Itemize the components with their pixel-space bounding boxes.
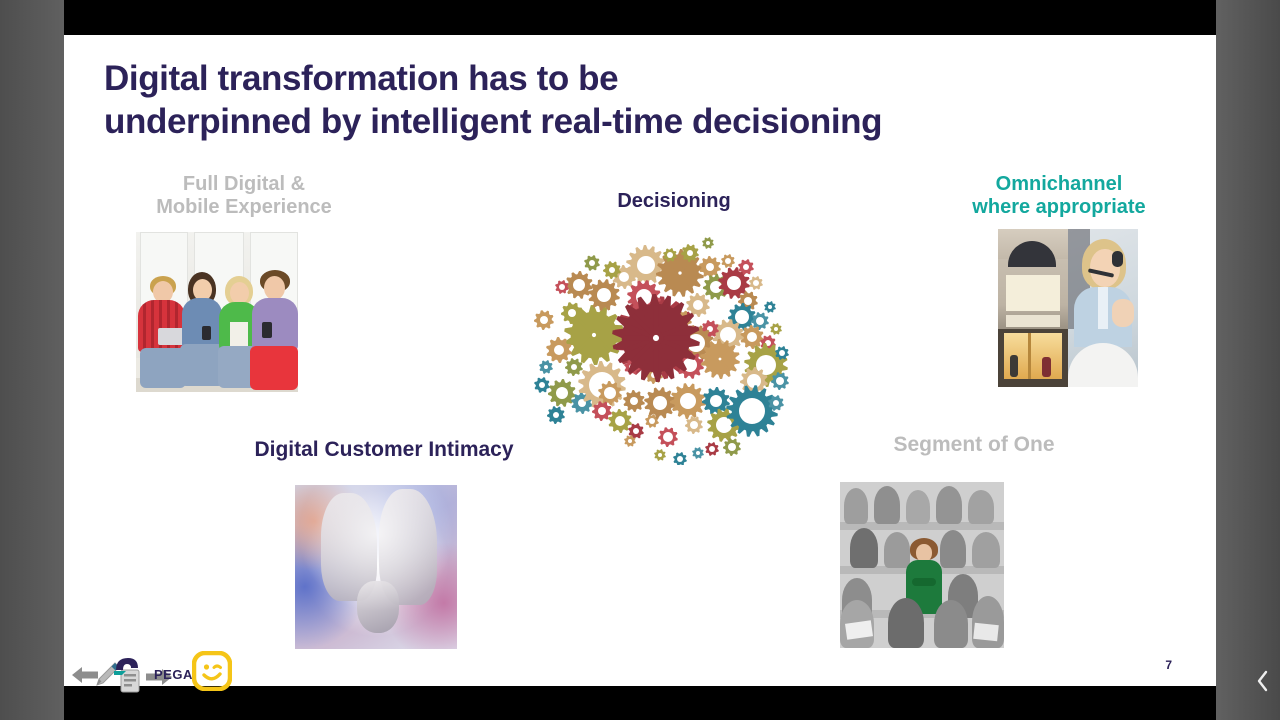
label-full-digital-mobile-experience: Full Digital & Mobile Experience bbox=[109, 173, 379, 220]
pega-wordmark: PEGA bbox=[154, 667, 193, 682]
label-omnichannel-line-2: where appropriate bbox=[904, 196, 1214, 219]
brain-gears-svg bbox=[484, 225, 814, 465]
viewer-toolbar: PEGA bbox=[64, 650, 314, 696]
label-omnichannel: Omnichannel where appropriate bbox=[904, 173, 1214, 220]
collapse-panel-button[interactable] bbox=[1252, 664, 1274, 698]
image-full-digital-mobile bbox=[136, 232, 298, 392]
presentation-viewer: Digital transformation has to be underpi… bbox=[0, 0, 1280, 720]
image-segment-of-one bbox=[840, 482, 1004, 648]
slide-title-line-2: underpinned by intelligent real-time dec… bbox=[104, 101, 1114, 144]
feedback-smiley-button[interactable] bbox=[192, 651, 232, 696]
winking-smiley-icon bbox=[192, 651, 232, 691]
page-number: 7 bbox=[1165, 658, 1172, 672]
slide-canvas: Digital transformation has to be underpi… bbox=[64, 35, 1216, 686]
label-full-digital-line-2: Mobile Experience bbox=[109, 196, 379, 219]
label-full-digital-line-1: Full Digital & bbox=[109, 173, 379, 196]
pega-logo: PEGA bbox=[114, 654, 154, 681]
slide-title-line-1: Digital transformation has to be bbox=[104, 58, 1114, 101]
image-omnichannel-agent bbox=[1068, 229, 1138, 387]
image-omnichannel bbox=[998, 229, 1138, 387]
image-digital-customer-intimacy bbox=[295, 485, 457, 649]
image-omnichannel-store bbox=[998, 229, 1068, 387]
pega-mark-icon bbox=[114, 654, 154, 676]
label-decisioning: Decisioning bbox=[504, 190, 844, 213]
label-segment-of-one: Segment of One bbox=[764, 433, 1184, 458]
chevron-left-icon bbox=[1256, 670, 1270, 692]
label-omnichannel-line-1: Omnichannel bbox=[904, 173, 1214, 196]
slide-title: Digital transformation has to be underpi… bbox=[104, 58, 1114, 143]
image-decisioning-brain-gears bbox=[484, 225, 814, 465]
